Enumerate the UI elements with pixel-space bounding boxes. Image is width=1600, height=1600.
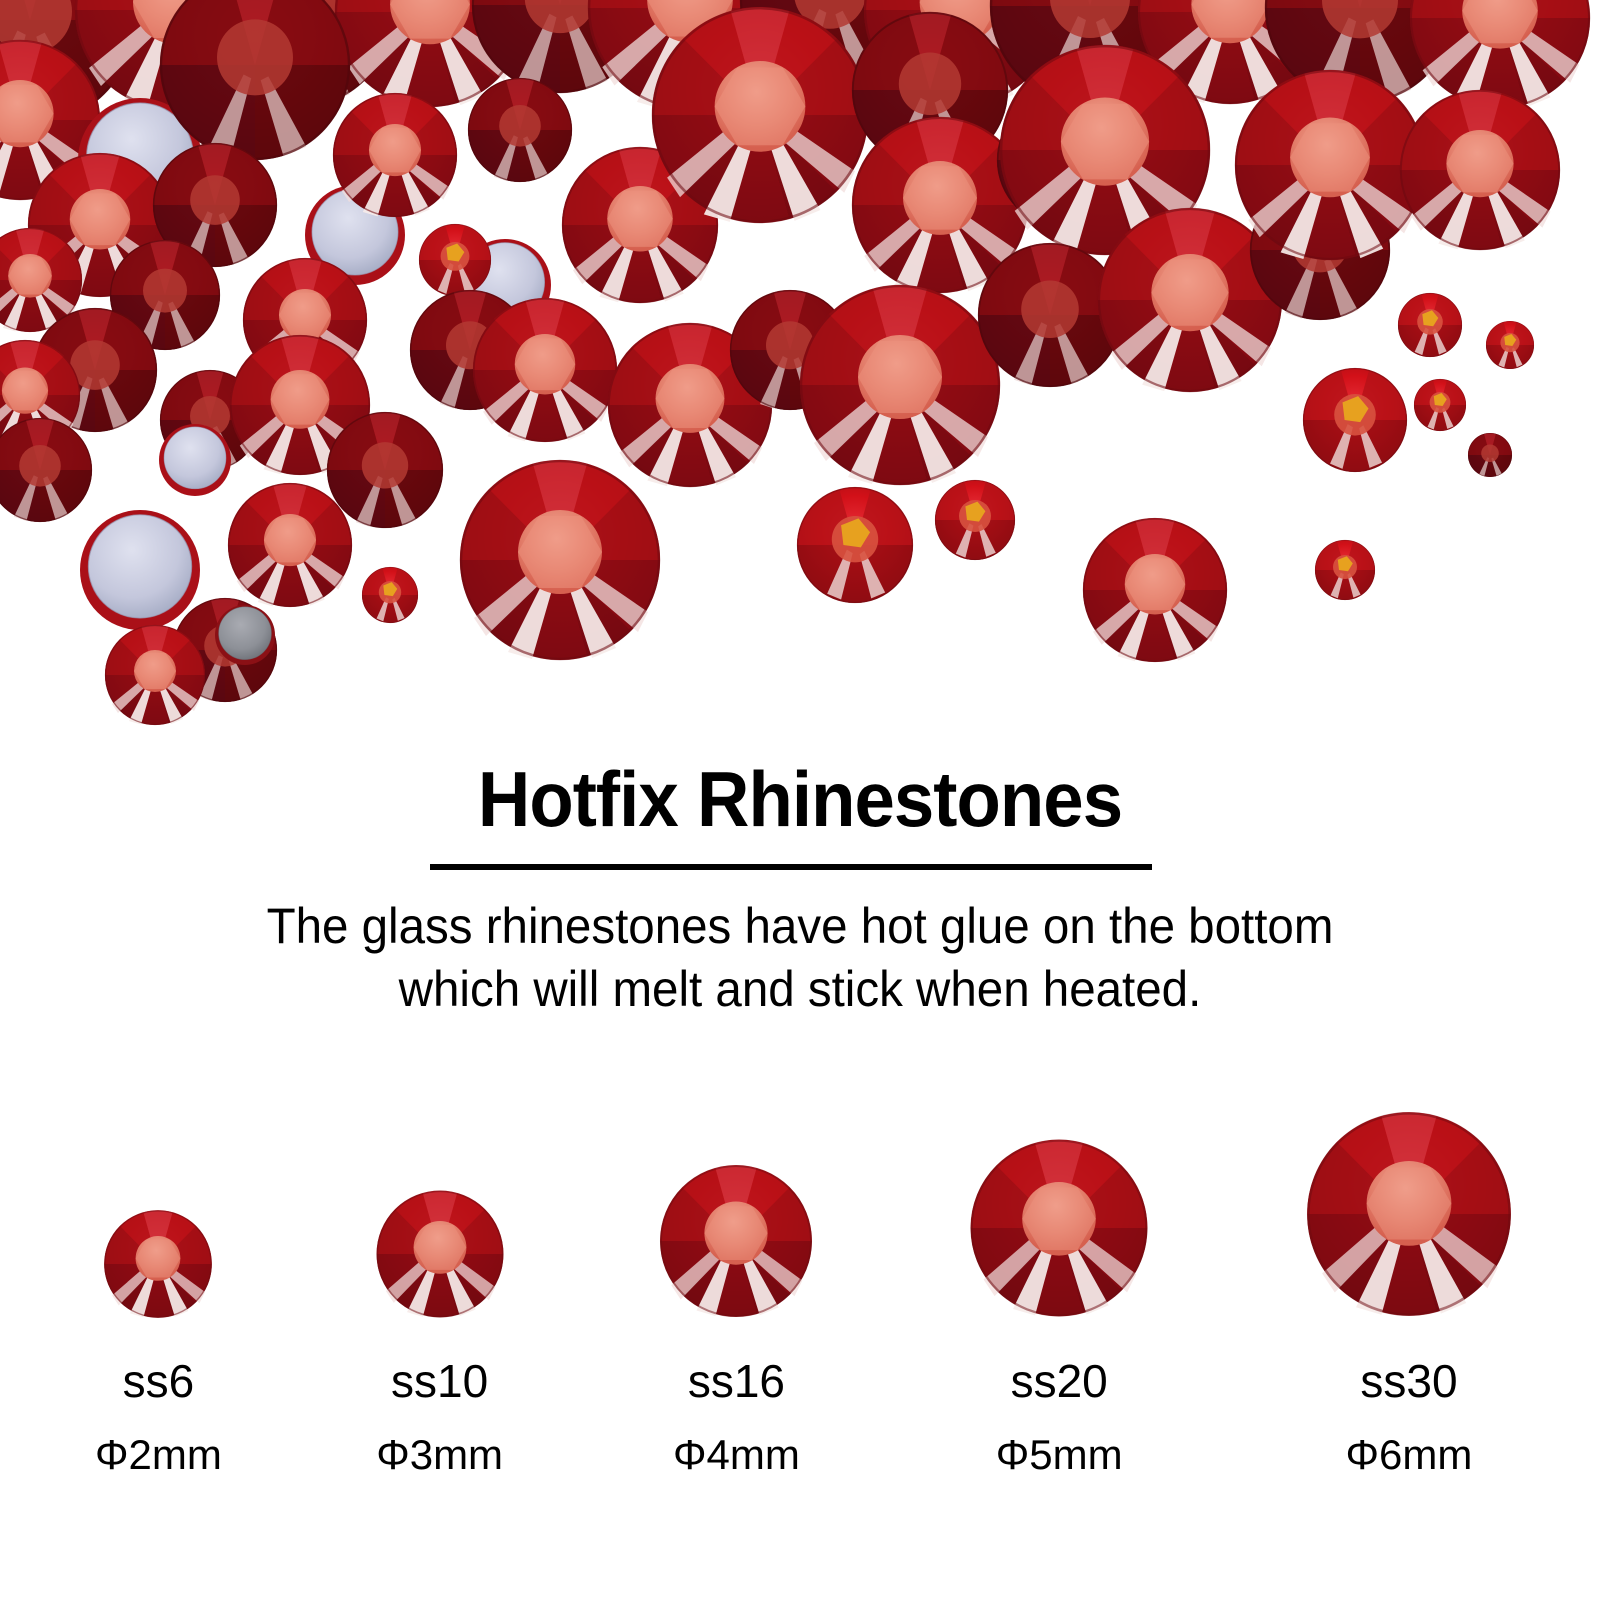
size-code-label: ss6 [123, 1358, 195, 1404]
size-item-ss6: ss6Φ2mm [95, 1110, 222, 1476]
size-diameter-label: Φ4mm [673, 1434, 800, 1476]
size-stone-4 [1303, 1108, 1515, 1320]
size-diameter-label: Φ3mm [376, 1434, 503, 1476]
size-stone-2 [657, 1162, 815, 1320]
size-diameter-label: Φ2mm [95, 1434, 222, 1476]
description-line-1: The glass rhinestones have hot glue on t… [40, 895, 1560, 958]
scatter-illustration [0, 0, 1600, 780]
page-title: Hotfix Rhinestones [56, 760, 1544, 838]
size-code-label: ss10 [391, 1358, 488, 1404]
size-stone-0 [102, 1208, 214, 1320]
stone-holder-ss10 [374, 1110, 506, 1320]
size-diameter-label: Φ6mm [1346, 1434, 1473, 1476]
size-code-label: ss16 [688, 1358, 785, 1404]
size-stone-1 [374, 1188, 506, 1320]
stone-holder-ss6 [102, 1110, 214, 1320]
stone-holder-ss30 [1303, 1110, 1515, 1320]
description-block: The glass rhinestones have hot glue on t… [0, 895, 1600, 1021]
stone-holder-ss16 [657, 1110, 815, 1320]
size-item-ss10: ss10Φ3mm [374, 1110, 506, 1476]
size-diameter-label: Φ5mm [996, 1434, 1123, 1476]
stone-holder-ss20 [967, 1110, 1151, 1320]
size-stone-3 [967, 1136, 1151, 1320]
size-item-ss20: ss20Φ5mm [967, 1110, 1151, 1476]
size-comparison-row: ss6Φ2mmss10Φ3mmss16Φ4mmss20Φ5mmss30Φ6mm [95, 1110, 1515, 1530]
size-item-ss16: ss16Φ4mm [657, 1110, 815, 1476]
title-block: Hotfix Rhinestones [0, 760, 1600, 838]
description-line-2: which will melt and stick when heated. [40, 958, 1560, 1021]
size-item-ss30: ss30Φ6mm [1303, 1110, 1515, 1476]
size-code-label: ss20 [1011, 1358, 1108, 1404]
title-divider [430, 864, 1152, 870]
size-code-label: ss30 [1360, 1358, 1457, 1404]
rhinestone-scatter-image [0, 0, 1600, 780]
